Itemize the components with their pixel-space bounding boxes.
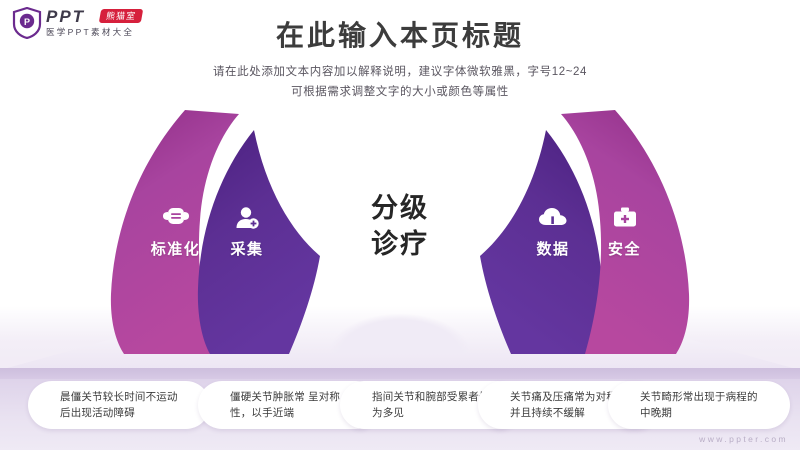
- caption-text-2: 僵硬关节肿胀常 呈对称性，以手近端: [230, 389, 348, 421]
- medical-kit-icon: [557, 206, 692, 233]
- caption-text-3: 指间关节和腕部受累者最为多见: [372, 389, 490, 421]
- slide-canvas: P PPT 熊猫室 医学PPT素材大全 在此输入本页标题 请在此处添加文本内容加…: [0, 0, 800, 450]
- caption-text-1: 晨僵关节较长时间不运动后出现活动障碍: [60, 389, 178, 421]
- petal-采集[interactable]: 采集: [196, 128, 326, 356]
- center-line-1: 分级: [330, 190, 470, 226]
- petal-label-4: 安全: [557, 238, 692, 259]
- caption-card-5[interactable]: 关节畸形常出现于病程的中晚期: [608, 381, 790, 429]
- caption-text-5: 关节畸形常出现于病程的中晚期: [640, 389, 758, 421]
- caption-card-1[interactable]: 晨僵关节较长时间不运动后出现活动障碍: [28, 381, 210, 429]
- watermark: www.ppter.com: [699, 434, 788, 444]
- caption-row: 晨僵关节较长时间不运动后出现活动障碍 僵硬关节肿胀常 呈对称性，以手近端 指间关…: [0, 381, 800, 429]
- petal-label-2: 采集: [182, 238, 312, 259]
- petal-安全[interactable]: 安全: [557, 108, 692, 356]
- center-label: 分级 诊疗: [330, 190, 470, 262]
- user-add-icon: [182, 206, 312, 235]
- center-line-2: 诊疗: [330, 226, 470, 262]
